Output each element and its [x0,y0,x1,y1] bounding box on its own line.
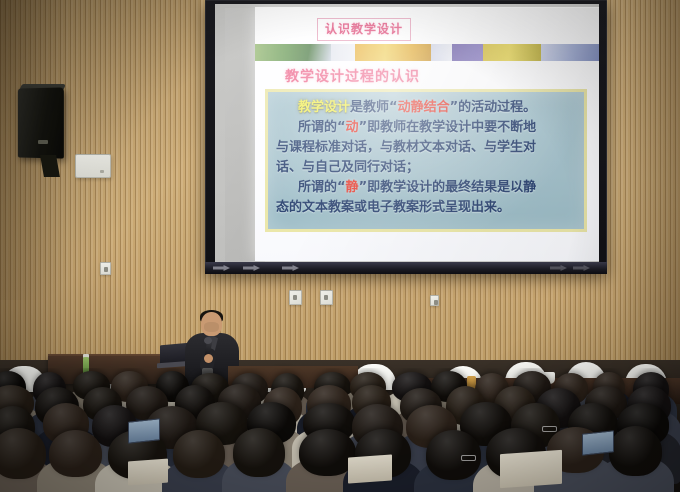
wall-shadow-right [620,0,680,400]
slide-text-segment: ”的活动过程。 [450,100,537,115]
arrow-right-icon[interactable] [282,265,299,271]
projection-screen-frame: 认识教学设计 教学设计过程的认识 教学设计是教师“动静结合”的活动过程。所谓的“… [205,0,607,272]
audience-paper [500,450,562,488]
slide-body-line: 所谓的“动”即教师在教学设计中要不断地 [276,118,576,138]
strip-segment-yellow [483,44,542,61]
audience-area [0,368,680,492]
slide-body-line: 话、与自己及同行对话； [276,158,576,178]
slide-text-segment: 态的文本教案或电子教案形式呈现出来。 [276,200,510,215]
audience-laptop [582,430,614,455]
power-outlet [289,290,302,305]
audience-member-head [173,430,225,478]
slide-text-segment: 是教师“ [350,100,398,115]
wall-control-panel[interactable] [75,154,111,178]
slide-text-segment: 动静结合 [398,100,450,115]
presentation-slide: 认识教学设计 教学设计过程的认识 教学设计是教师“动静结合”的活动过程。所谓的“… [255,7,599,261]
slide-text-segment: 话、与自己及同行对话； [276,160,419,175]
projection-screen-surface: 认识教学设计 教学设计过程的认识 教学设计是教师“动静结合”的活动过程。所谓的“… [215,4,599,262]
audience-laptop [128,418,160,443]
slide-body-line: 与课程标准对话，与教材文本对话、与学生对 [276,138,576,158]
slide-text-segment: 所谓的“ [298,180,346,195]
slide-decorative-photo-strip [255,44,599,61]
power-outlet [430,295,439,306]
presenter-face-shadow [204,322,219,332]
arrow-right-icon[interactable] [550,265,567,271]
slide-body-line: 教学设计是教师“动静结合”的活动过程。 [276,98,576,118]
power-outlet [100,262,111,275]
screenshot-root: 认识教学设计 教学设计过程的认识 教学设计是教师“动静结合”的活动过程。所谓的“… [0,0,680,492]
audience-member-head [49,430,102,477]
strip-segment-purple [452,44,483,61]
arrow-right-icon[interactable] [213,265,230,271]
audience-member-head [609,426,662,476]
eyeglasses-icon [542,426,557,432]
slide-body-line: 所谓的“静”即教学设计的最终结果是以静 [276,178,576,198]
slide-title-text: 认识教学设计 [325,22,403,36]
microphone-head-icon [204,337,212,344]
strip-segment-keyboard [541,44,599,61]
presenter-hand [204,354,213,363]
wall-speaker-icon [18,87,64,158]
slide-body-line: 态的文本教案或电子教案形式呈现出来。 [276,198,576,218]
screen-bottom-bar [205,262,607,274]
slide-title-chip: 认识教学设计 [317,18,411,41]
arrow-right-icon[interactable] [243,265,260,271]
slide-text-segment: 与课程标准对话，与教材文本对话、与学生对 [276,140,536,155]
slide-text-segment: ”即教学设计的最终结果是以静 [359,180,537,195]
eyeglasses-icon [461,455,476,461]
slide-content-box: 教学设计是教师“动静结合”的活动过程。所谓的“动”即教师在教学设计中要不断地与课… [265,89,587,232]
slide-text-segment: 动 [346,120,359,135]
audience-paper [348,454,392,483]
strip-segment-gap-2 [431,44,452,61]
slide-heading: 教学设计过程的认识 [285,66,420,86]
strip-segment-orange [355,44,431,61]
audience-paper [128,459,168,486]
audience-member-head [233,428,285,477]
wall-panel-dot [100,170,104,173]
strip-segment-gap-1 [331,44,355,61]
power-outlet [320,290,333,305]
arrow-right-icon[interactable] [573,265,590,271]
slide-text-segment: 静 [346,180,359,195]
wall-speaker-badge [38,140,48,144]
slide-text-segment: ”即教师在教学设计中要不断地 [359,120,537,135]
slide-text-segment: 教学设计 [298,100,350,115]
strip-segment-green [255,44,331,61]
slide-text-segment: 所谓的“ [298,120,346,135]
